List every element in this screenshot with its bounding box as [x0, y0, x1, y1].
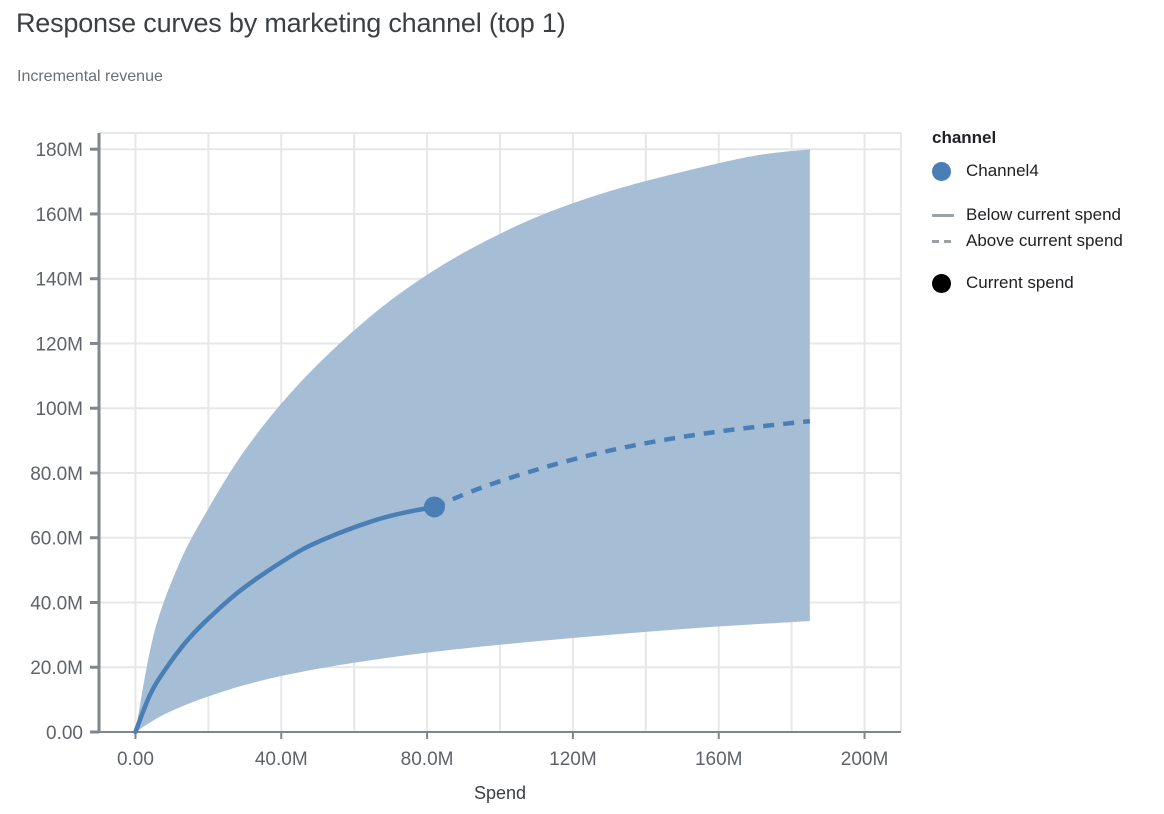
- svg-text:160M: 160M: [35, 205, 83, 226]
- circle-icon: [932, 162, 966, 181]
- legend: channel Channel4 Below current spend Abo…: [932, 128, 1164, 296]
- svg-text:0.00: 0.00: [46, 723, 83, 744]
- svg-text:180M: 180M: [35, 140, 83, 161]
- svg-text:160M: 160M: [695, 749, 743, 770]
- current-spend-marker[interactable]: [424, 496, 445, 517]
- uncertainty-band: [135, 149, 809, 732]
- legend-item-channel4[interactable]: Channel4: [932, 158, 1164, 184]
- svg-text:60.0M: 60.0M: [30, 529, 83, 550]
- svg-text:100M: 100M: [35, 399, 83, 420]
- legend-item-below-current-spend[interactable]: Below current spend: [932, 202, 1164, 228]
- svg-text:120M: 120M: [549, 749, 597, 770]
- svg-text:40.0M: 40.0M: [30, 593, 83, 614]
- legend-item-label: Below current spend: [966, 205, 1121, 225]
- svg-text:0.00: 0.00: [117, 749, 154, 770]
- legend-item-label: Above current spend: [966, 231, 1123, 251]
- svg-text:40.0M: 40.0M: [255, 749, 308, 770]
- plot-area: 0.0020.0M40.0M60.0M80.0M100M120M140M160M…: [0, 0, 1164, 814]
- svg-text:120M: 120M: [35, 334, 83, 355]
- svg-text:200M: 200M: [841, 749, 889, 770]
- chart-page: Response curves by marketing channel (to…: [0, 0, 1164, 814]
- svg-text:140M: 140M: [35, 270, 83, 291]
- x-axis-title: Spend: [474, 783, 526, 803]
- filled-circle-icon: [932, 274, 966, 293]
- legend-item-current-spend[interactable]: Current spend: [932, 270, 1164, 296]
- legend-item-label: Channel4: [966, 161, 1039, 181]
- svg-text:20.0M: 20.0M: [30, 658, 83, 679]
- dashed-line-icon: [932, 240, 966, 243]
- chart-svg: 0.0020.0M40.0M60.0M80.0M100M120M140M160M…: [0, 0, 1164, 814]
- legend-item-above-current-spend[interactable]: Above current spend: [932, 228, 1164, 254]
- svg-text:80.0M: 80.0M: [401, 749, 454, 770]
- legend-title: channel: [932, 128, 1164, 148]
- svg-text:Spend: Spend: [474, 783, 526, 803]
- legend-item-label: Current spend: [966, 273, 1074, 293]
- svg-text:80.0M: 80.0M: [30, 464, 83, 485]
- solid-line-icon: [932, 214, 966, 217]
